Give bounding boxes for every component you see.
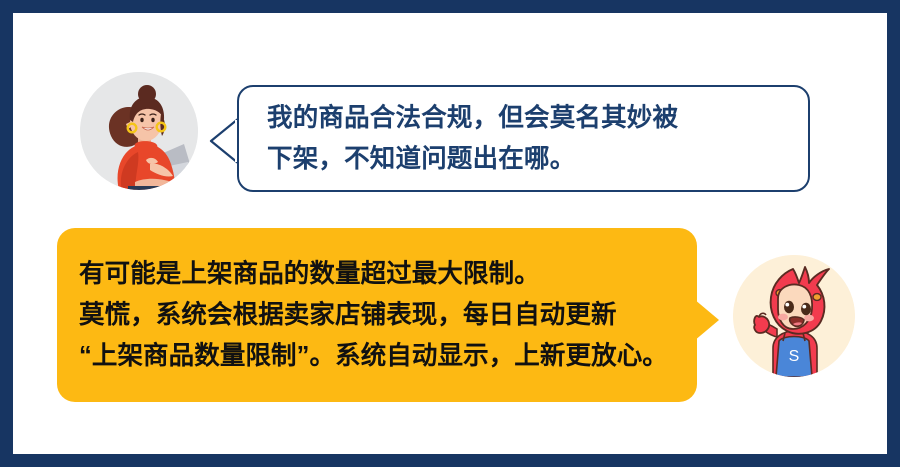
question-text: 我的商品合法合规，但会莫名其妙被 下架，不知道问题出在哪。 xyxy=(267,98,678,180)
flame-mascot-icon: S xyxy=(733,255,855,377)
illustration-frame: 我的商品合法合规，但会莫名其妙被 下架，不知道问题出在哪。 有可能是上架商品的数… xyxy=(0,0,900,467)
question-speech-bubble: 我的商品合法合规，但会莫名其妙被 下架，不知道问题出在哪。 xyxy=(237,85,810,192)
woman-with-laptop-icon xyxy=(80,72,198,190)
answer-text: 有可能是上架商品的数量超过最大限制。 莫慌，系统会根据卖家店铺表现，每日自动更新… xyxy=(79,254,668,377)
question-bubble-tail xyxy=(209,118,239,164)
answer-bubble-tail xyxy=(694,299,720,341)
mascot-badge-letter: S xyxy=(789,348,800,365)
woman-avatar xyxy=(80,72,198,190)
answer-speech-bubble: 有可能是上架商品的数量超过最大限制。 莫慌，系统会根据卖家店铺表现，每日自动更新… xyxy=(57,228,697,402)
illustration-canvas: 我的商品合法合规，但会莫名其妙被 下架，不知道问题出在哪。 有可能是上架商品的数… xyxy=(13,13,887,454)
mascot-avatar: S xyxy=(733,255,855,377)
